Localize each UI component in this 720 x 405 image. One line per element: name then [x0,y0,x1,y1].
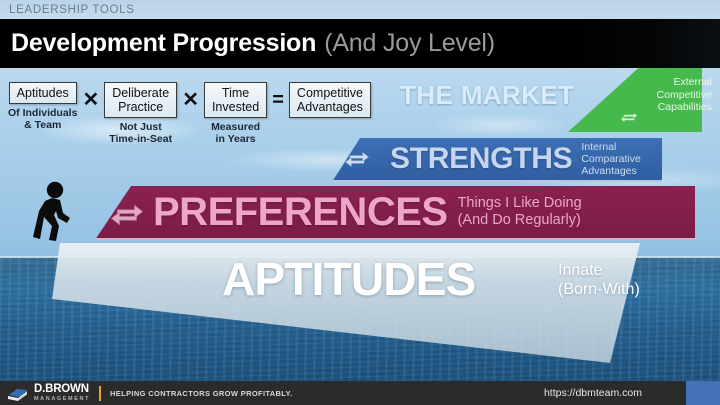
footer-accent-strip [686,381,720,405]
recycle-icon [620,111,638,124]
footer-tagline: HELPING CONTRACTORS GROW PROFITABLY. [110,389,292,398]
formula-box: Deliberate Practice [104,82,177,118]
band-preferences: PREFERENCES Things I Like Doing (And Do … [95,186,695,240]
slide-canvas: External Competitive Capabilities LEADER… [0,0,720,405]
walking-person-icon [32,181,76,243]
eyebrow-label: LEADERSHIP TOOLS [9,4,135,16]
formula-term-deliberate-practice: Deliberate Practice Not Just Time-in-Sea… [104,82,177,145]
band-strengths-description: Internal Comparative Advantages [581,141,641,177]
formula-row: Aptitudes Of Individuals & Team ✕ Delibe… [8,82,371,145]
formula-operator-multiply-1: ✕ [82,82,99,118]
formula-box: Time Invested [204,82,267,118]
formula-term-competitive-advantages: Competitive Advantages [289,82,371,118]
footer-url[interactable]: https://dbmteam.com [544,381,642,405]
page-title: Development Progression [11,29,316,58]
footer-bar: D.BROWN MANAGEMENT HELPING CONTRACTORS G… [0,381,686,405]
band-preferences-title: PREFERENCES [153,190,448,235]
band-strengths-title: STRENGTHS [390,142,572,176]
dbrown-logo-text: D.BROWN MANAGEMENT [34,384,90,402]
formula-caption: Of Individuals & Team [8,107,77,131]
eyebrow-bar: LEADERSHIP TOOLS [0,0,720,19]
market-triangle-label: External Competitive Capabilities [632,76,712,114]
formula-term-time-invested: Time Invested Measured in Years [204,82,267,145]
band-strengths: STRENGTHS Internal Comparative Advantage… [332,138,662,182]
formula-box: Competitive Advantages [289,82,371,118]
logo-divider [99,386,101,401]
logo-primary: D.BROWN [34,384,90,396]
dbrown-logo-icon [7,385,29,402]
page-subtitle: (And Joy Level) [324,29,495,58]
formula-box: Aptitudes [9,82,77,104]
title-bar: Development Progression (And Joy Level) [0,19,720,68]
formula-operator-equals: = [272,82,284,118]
recycle-icon [110,202,144,228]
formula-operator-multiply-2: ✕ [182,82,199,118]
band-aptitudes-title: APTITUDES [222,252,475,306]
formula-caption: Not Just Time-in-Seat [109,121,172,145]
logo-secondary: MANAGEMENT [34,397,90,403]
formula-caption: Measured in Years [211,121,260,145]
recycle-icon [344,150,370,169]
market-label: THE MARKET [400,80,574,111]
band-preferences-description: Things I Like Doing (And Do Regularly) [458,195,582,229]
band-aptitudes-description: Innate (Born-With) [558,261,640,299]
formula-term-aptitudes: Aptitudes Of Individuals & Team [8,82,77,131]
